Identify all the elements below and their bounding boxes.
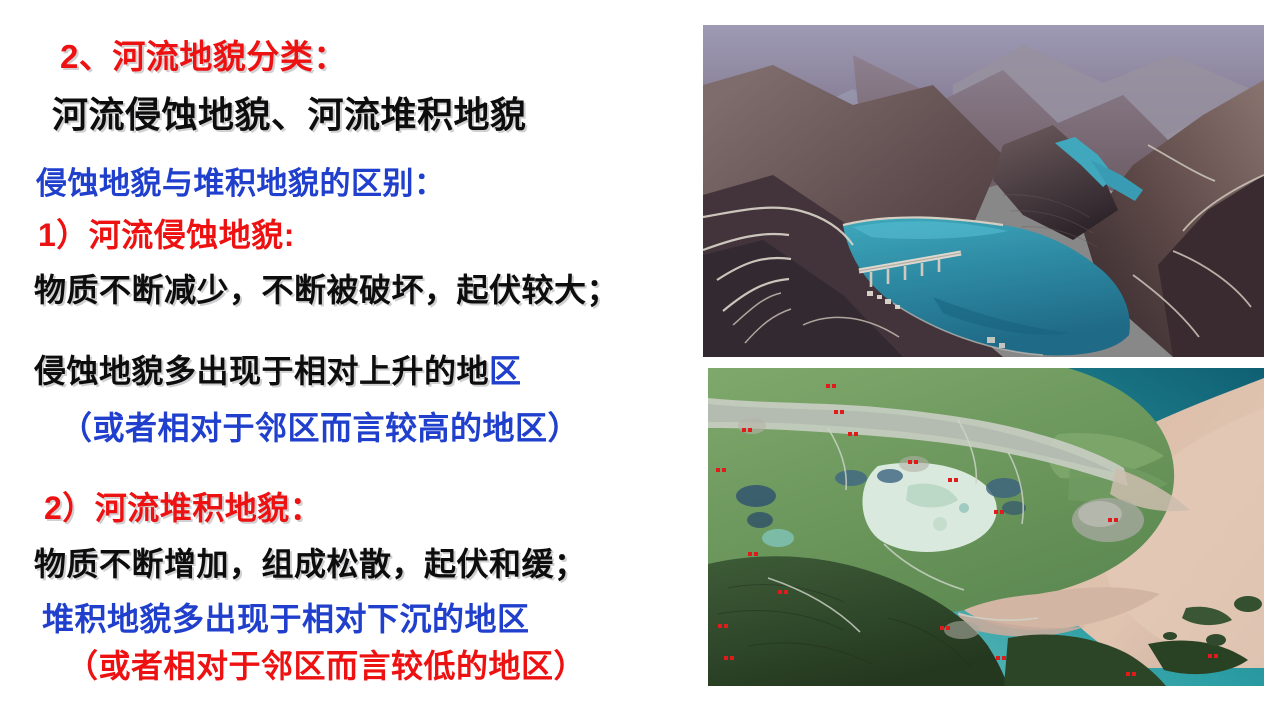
item-1-heading: 1）河流侵蚀地貌: bbox=[38, 219, 295, 251]
slide-canvas: 2、河流地貌分类： 河流侵蚀地貌、河流堆积地貌 侵蚀地貌与堆积地貌的区别： 1）… bbox=[0, 0, 1280, 720]
item-2-parenthetical: （或者相对于邻区而言较低的地区） bbox=[66, 650, 586, 682]
slide-subtitle: 河流侵蚀地貌、河流堆积地貌 bbox=[52, 97, 527, 133]
text-content-column: 2、河流地貌分类： 河流侵蚀地貌、河流堆积地貌 侵蚀地貌与堆积地貌的区别： 1）… bbox=[0, 0, 700, 720]
item-2-body: 物质不断增加，组成松散，起伏和缓； bbox=[34, 548, 587, 580]
canyon-illustration bbox=[703, 25, 1264, 357]
delta-satellite-illustration bbox=[708, 368, 1264, 686]
item-1-note-tail: 区 bbox=[489, 353, 522, 389]
item-1-note: 侵蚀地貌多出现于相对上升的地区 bbox=[34, 355, 522, 387]
river-canyon-photo bbox=[703, 25, 1264, 357]
item-2-heading: 2）河流堆积地貌： bbox=[44, 492, 322, 524]
item-1-body: 物质不断减少，不断被破坏，起伏较大； bbox=[34, 274, 619, 306]
slide-title: 2、河流地貌分类： bbox=[60, 40, 347, 73]
river-delta-satellite-photo bbox=[708, 368, 1264, 686]
item-1-note-main: 侵蚀地貌多出现于相对上升的地 bbox=[34, 353, 489, 389]
section-heading-difference: 侵蚀地貌与堆积地貌的区别： bbox=[36, 168, 446, 199]
item-2-note: 堆积地貌多出现于相对下沉的地区 bbox=[42, 603, 530, 635]
item-1-parenthetical: （或者相对于邻区而言较高的地区） bbox=[60, 412, 580, 444]
